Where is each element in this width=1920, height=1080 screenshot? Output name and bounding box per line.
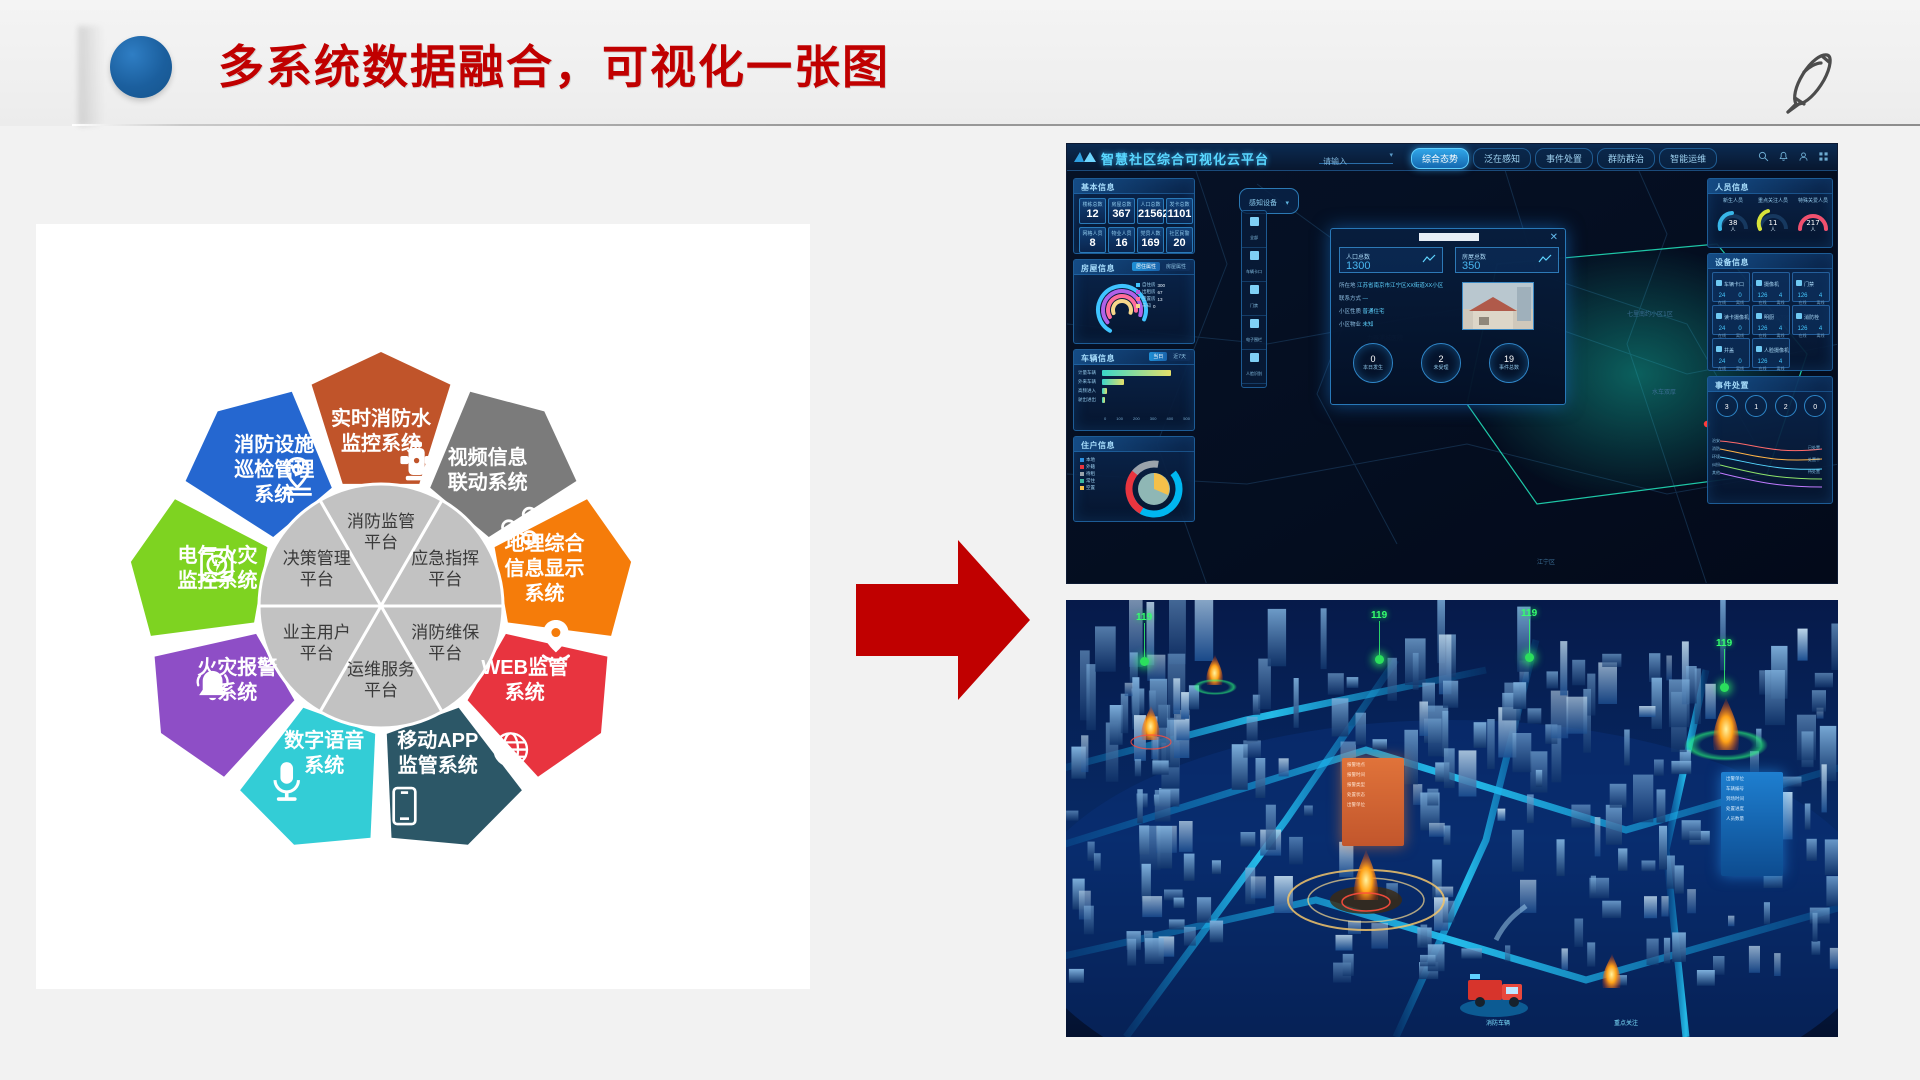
city-building bbox=[1797, 715, 1816, 761]
legend-swatch bbox=[1136, 290, 1140, 294]
chevron-down-icon[interactable]: ▾ bbox=[1389, 151, 1393, 159]
device-cell-0[interactable]: 车辆卡口24在线0离线 bbox=[1712, 272, 1750, 302]
city-building bbox=[1667, 856, 1675, 889]
people-gauge-0: 新生人员38人 bbox=[1714, 197, 1752, 238]
city-building bbox=[1610, 784, 1627, 808]
city-caption-focus: 重点关注 bbox=[1614, 1018, 1638, 1027]
marker-stem bbox=[1379, 621, 1380, 655]
svg-text:纠纷: 纠纷 bbox=[1712, 461, 1720, 467]
basic-stat-5: 物业人员16 bbox=[1108, 227, 1135, 253]
city-building bbox=[1749, 946, 1760, 973]
dashboard-logo-icon bbox=[1073, 150, 1097, 169]
city-building bbox=[1505, 945, 1510, 961]
device-offline: 0 bbox=[1736, 293, 1744, 300]
svg-text:治安: 治安 bbox=[1712, 437, 1720, 443]
vehicle-axis-tick-5: 500 bbox=[1183, 416, 1190, 421]
house-info-tabs[interactable]: 居住属性房屋属性 bbox=[1132, 262, 1190, 271]
resident-info-legend: 本地外籍待租常住空置 bbox=[1080, 457, 1095, 492]
city-119-marker-3: 119 bbox=[1716, 638, 1732, 692]
pen-icon bbox=[1766, 40, 1846, 125]
device-online: 126 bbox=[1797, 293, 1807, 300]
panel-people-info: 人员信息 新生人员38人重点关注人员11人特殊关爱人员217人 bbox=[1707, 178, 1833, 248]
city-building bbox=[1459, 750, 1477, 796]
city-panel-row-4: 出警单位 bbox=[1347, 802, 1399, 808]
device-online: 24 bbox=[1718, 293, 1726, 300]
house-tab-0[interactable]: 居住属性 bbox=[1132, 262, 1160, 271]
trend-up-icon bbox=[1422, 254, 1436, 264]
city-building bbox=[1812, 690, 1826, 711]
svg-text:人: 人 bbox=[1730, 227, 1735, 233]
bell-icon[interactable] bbox=[1778, 151, 1789, 162]
people-gauge-1: 重点关注人员11人 bbox=[1754, 197, 1792, 238]
city-building bbox=[1624, 730, 1630, 766]
marker-stem bbox=[1144, 623, 1145, 657]
svg-text:其他: 其他 bbox=[1712, 469, 1720, 475]
city-building bbox=[1547, 671, 1559, 688]
device-name: 门禁 bbox=[1804, 282, 1814, 288]
city-building bbox=[1443, 681, 1458, 708]
city-caption-truck: 消防车辆 bbox=[1486, 1018, 1510, 1027]
city-building bbox=[1294, 678, 1299, 728]
map-layer-dropdown-label: 感知设备 bbox=[1249, 200, 1277, 207]
city-building bbox=[1647, 939, 1659, 966]
car-icon bbox=[1250, 251, 1259, 260]
city-building bbox=[1649, 653, 1660, 682]
modal-circle-label: 本日发生 bbox=[1354, 365, 1392, 371]
house-legend-item-0: 自住房300 bbox=[1136, 282, 1165, 288]
city-building bbox=[1598, 662, 1617, 704]
city-building bbox=[1371, 923, 1388, 949]
door-icon bbox=[1796, 280, 1802, 286]
device-name: 车辆卡口 bbox=[1724, 282, 1744, 288]
house-donut-chart bbox=[1074, 276, 1196, 344]
city-building bbox=[1356, 713, 1367, 745]
svg-text:人: 人 bbox=[1770, 227, 1775, 233]
city-building bbox=[1266, 805, 1276, 850]
svg-text:处置中: 处置中 bbox=[1808, 456, 1820, 462]
map-tool-face-icon[interactable]: 人脸识别 bbox=[1242, 350, 1266, 384]
city-building bbox=[1687, 889, 1696, 913]
city-building bbox=[1654, 760, 1664, 776]
device-cell-2[interactable]: 门禁126在线4离线 bbox=[1792, 272, 1830, 302]
header-accent-bar bbox=[78, 26, 104, 126]
event-counter-value: 2 bbox=[1784, 404, 1788, 411]
map-tool-label: 车辆卡口 bbox=[1246, 269, 1262, 274]
city-building bbox=[1095, 626, 1116, 671]
device-cell-5[interactable]: 消防栓126在线4离线 bbox=[1792, 305, 1830, 335]
dashboard-search-value: 请输入 bbox=[1319, 157, 1347, 166]
device-name: 摄像机 bbox=[1764, 282, 1779, 288]
svg-text:11: 11 bbox=[1769, 219, 1778, 227]
city-building bbox=[1181, 692, 1189, 719]
city-building bbox=[1084, 906, 1094, 935]
city-building bbox=[1589, 878, 1609, 899]
city-building bbox=[1682, 820, 1701, 840]
panel-title: 车辆信息 bbox=[1081, 353, 1115, 364]
city-building bbox=[1420, 955, 1436, 966]
modal-field-label: 所在地 bbox=[1339, 283, 1356, 289]
legend-swatch bbox=[1136, 297, 1140, 301]
legend-swatch bbox=[1080, 479, 1084, 483]
dashboard-tab-2[interactable]: 事件处置 bbox=[1535, 148, 1593, 169]
stat-value: 8 bbox=[1080, 237, 1105, 250]
vehicle-tab-1[interactable]: 近7天 bbox=[1169, 352, 1190, 361]
city-building bbox=[1822, 764, 1827, 812]
city-building bbox=[1195, 600, 1214, 661]
gauge-arc: 11人 bbox=[1756, 205, 1790, 233]
vehicle-bar-row-2: 高频进入 bbox=[1078, 388, 1192, 394]
modal-field-label: 小区性质 bbox=[1339, 309, 1361, 315]
title-bullet-icon bbox=[110, 36, 172, 98]
panel-device-info: 设备信息 车辆卡口24在线0离线摄像机126在线4离线门禁126在线4离线读卡摄… bbox=[1707, 253, 1833, 371]
event-counter-1: 1 bbox=[1745, 395, 1767, 417]
dashboard-nav-tabs[interactable]: 综合态势泛在感知事件处置群防群治智能运维 bbox=[1411, 148, 1717, 169]
city-building bbox=[1657, 789, 1666, 822]
device-online: 126 bbox=[1797, 326, 1807, 333]
panel-title: 房屋信息 bbox=[1081, 263, 1115, 274]
community-detail-modal[interactable]: ✕ 人口总数1300房屋总数350 所在地 江苏省南京市江宁区XX街道XX小区联… bbox=[1330, 228, 1566, 405]
svg-text:水车双厚: 水车双厚 bbox=[1652, 388, 1676, 396]
city-building bbox=[1429, 823, 1445, 837]
city-building bbox=[1289, 837, 1303, 865]
vehicle-bar bbox=[1102, 379, 1124, 385]
legend-label: 未知 bbox=[1142, 303, 1151, 309]
modal-stat-1: 房屋总数350 bbox=[1455, 247, 1559, 273]
event-counter-value: 1 bbox=[1754, 404, 1758, 411]
device-cell-3[interactable]: 读卡摄像机24在线0离线 bbox=[1712, 305, 1750, 335]
legend-label: 常住 bbox=[1086, 478, 1095, 484]
map-tool-fence-icon[interactable]: 电子围栏 bbox=[1242, 316, 1266, 350]
city-building bbox=[1321, 608, 1327, 669]
dashboard-tab-0[interactable]: 综合态势 bbox=[1411, 148, 1469, 169]
city-building bbox=[1587, 942, 1595, 966]
resident-pie-chart bbox=[1114, 455, 1194, 521]
gauge-arc: 38人 bbox=[1716, 205, 1750, 233]
user-icon[interactable] bbox=[1798, 151, 1809, 162]
legend-label: 外籍 bbox=[1086, 464, 1095, 470]
map-tool-label: 人脸识别 bbox=[1246, 371, 1262, 376]
device-cell-1[interactable]: 摄像机126在线4离线 bbox=[1752, 272, 1790, 302]
device-offline: 4 bbox=[1776, 359, 1784, 366]
modal-circle-label: 未受理 bbox=[1422, 365, 1460, 371]
kitchen-icon bbox=[1756, 313, 1762, 319]
stat-value: 367 bbox=[1109, 208, 1134, 221]
panel-basic-info: 基本信息 楼栋总数12房屋总数367人口总数21562发卡总数1101网格人员8… bbox=[1073, 178, 1195, 254]
modal-field-0: 所在地 江苏省南京市江宁区XX街道XX小区 bbox=[1339, 281, 1443, 289]
stat-value: 21562 bbox=[1138, 208, 1163, 221]
city-building bbox=[1528, 708, 1542, 723]
gauge-label: 新生人员 bbox=[1714, 197, 1752, 204]
legend-swatch bbox=[1080, 472, 1084, 476]
device-name: 明厨 bbox=[1764, 315, 1774, 321]
city-building bbox=[1328, 673, 1344, 694]
city-panel-row-3: 处置状态 bbox=[1347, 792, 1399, 798]
legend-value: 13 bbox=[1158, 297, 1163, 302]
city-119-marker-0: 119 bbox=[1136, 612, 1152, 666]
device-online-label: 在线 bbox=[1797, 333, 1807, 338]
city-building bbox=[1826, 876, 1838, 906]
city-building bbox=[1652, 678, 1663, 729]
modal-field-value: 未知 bbox=[1363, 322, 1374, 328]
city-building bbox=[1805, 804, 1811, 830]
device-name: 消防栓 bbox=[1804, 315, 1819, 321]
svg-text:38: 38 bbox=[1729, 219, 1738, 227]
device-name: 人脸摄像机 bbox=[1764, 348, 1789, 354]
event-counter-value: 3 bbox=[1725, 404, 1729, 411]
marker-label: 119 bbox=[1371, 610, 1387, 621]
house-legend-item-2: 空置房13 bbox=[1136, 296, 1165, 302]
modal-title-placeholder bbox=[1419, 233, 1479, 241]
marker-stem bbox=[1724, 649, 1725, 683]
device-offline: 4 bbox=[1816, 293, 1824, 300]
stat-value: 16 bbox=[1109, 237, 1134, 250]
device-offline: 4 bbox=[1776, 326, 1784, 333]
city-building bbox=[1566, 697, 1587, 734]
city-building bbox=[1444, 748, 1455, 788]
city-dispatch-panel: 出警单位车辆编号到场时间处置进度人员数量 bbox=[1721, 772, 1783, 876]
city-building bbox=[1388, 658, 1397, 701]
dashboard-search-input[interactable]: 请输入 ▾ bbox=[1319, 151, 1393, 164]
door-icon bbox=[1250, 285, 1259, 294]
city-building bbox=[1210, 921, 1223, 943]
city-building bbox=[1088, 842, 1095, 861]
city-building bbox=[1602, 901, 1621, 918]
modal-field-label: 联系方式 bbox=[1339, 296, 1361, 302]
resident-legend-item-4: 空置 bbox=[1080, 485, 1095, 491]
city-building bbox=[1135, 759, 1141, 776]
legend-value: 0 bbox=[1153, 304, 1156, 309]
device-cell-7[interactable]: 人脸摄像机126在线4离线 bbox=[1752, 338, 1790, 368]
city-building bbox=[1152, 761, 1168, 775]
legend-label: 出租房 bbox=[1142, 289, 1156, 295]
legend-swatch bbox=[1080, 486, 1084, 490]
map-tool-car-icon[interactable]: 车辆卡口 bbox=[1242, 248, 1266, 282]
modal-stat-value: 1300 bbox=[1346, 260, 1370, 272]
modal-circle-value: 19 bbox=[1490, 354, 1528, 365]
marker-stem bbox=[1529, 619, 1530, 653]
manhole-icon bbox=[1716, 346, 1722, 352]
house-tab-1[interactable]: 房屋属性 bbox=[1162, 262, 1190, 271]
city-building bbox=[1173, 678, 1180, 714]
city-building bbox=[1155, 790, 1171, 822]
device-cell-4[interactable]: 明厨126在线4离线 bbox=[1752, 305, 1790, 335]
legend-value: 300 bbox=[1158, 283, 1166, 288]
modal-field-3: 小区物业 未知 bbox=[1339, 320, 1374, 328]
vehicle-axis-tick-1: 100 bbox=[1116, 416, 1123, 421]
camera-icon bbox=[1756, 280, 1762, 286]
city-building bbox=[1512, 830, 1524, 872]
vehicle-bar-row-0: 计量车辆 bbox=[1078, 370, 1192, 376]
vehicle-bar-label: 高频进入 bbox=[1078, 388, 1102, 394]
close-icon[interactable]: ✕ bbox=[1550, 232, 1558, 243]
city-building bbox=[1348, 921, 1361, 934]
city-panel-row-4: 人员数量 bbox=[1726, 816, 1778, 822]
city-building bbox=[1728, 916, 1734, 927]
city-building bbox=[1807, 839, 1817, 861]
panel-title: 住户信息 bbox=[1081, 440, 1115, 451]
dashboard-title: 智慧社区综合可视化云平台 bbox=[1101, 149, 1269, 168]
face-icon bbox=[1756, 346, 1762, 352]
city-building bbox=[1587, 674, 1595, 716]
vehicle-axis-tick-4: 400 bbox=[1167, 416, 1174, 421]
city-panel-row-1: 车辆编号 bbox=[1726, 786, 1778, 792]
city-building bbox=[1606, 805, 1622, 845]
modal-circle-label: 事件总数 bbox=[1490, 365, 1528, 371]
city-building bbox=[1487, 719, 1495, 769]
city-building bbox=[1279, 758, 1289, 776]
city-building bbox=[1644, 896, 1657, 918]
map-tool-layers-icon[interactable]: 全部 bbox=[1242, 214, 1266, 248]
legend-swatch bbox=[1136, 283, 1140, 287]
city-building bbox=[1066, 811, 1078, 821]
modal-circle-value: 0 bbox=[1354, 354, 1392, 365]
city-alarm-panel: 报警地点报警时间报警类型处置状态出警单位 bbox=[1342, 758, 1404, 846]
dashboard-top-icons[interactable] bbox=[1758, 151, 1829, 162]
modal-circle-2: 19事件总数 bbox=[1489, 343, 1529, 383]
city-building bbox=[1081, 735, 1088, 772]
city-building bbox=[1639, 706, 1655, 717]
dashboard-tab-1[interactable]: 泛在感知 bbox=[1473, 148, 1531, 169]
city-building bbox=[1557, 839, 1565, 876]
svg-text:七里南约小区1区: 七里南约小区1区 bbox=[1627, 310, 1673, 318]
event-counters: 3120 bbox=[1712, 395, 1830, 417]
map-tool-rail[interactable]: 全部车辆卡口门禁电子围栏人脸识别 bbox=[1241, 210, 1267, 388]
city-building bbox=[1145, 938, 1164, 964]
panel-title: 事件处置 bbox=[1715, 380, 1749, 391]
city-building bbox=[1121, 694, 1128, 734]
city-building bbox=[1527, 794, 1534, 823]
city-building bbox=[1551, 691, 1568, 739]
city-building bbox=[1157, 826, 1172, 869]
city-building bbox=[1798, 629, 1808, 661]
event-counter-2: 2 bbox=[1775, 395, 1797, 417]
basic-stat-6: 党员人数169 bbox=[1137, 227, 1164, 253]
city-building bbox=[1659, 826, 1667, 870]
city-building bbox=[1086, 664, 1095, 730]
city-building bbox=[1815, 673, 1833, 688]
city-building bbox=[1137, 789, 1143, 823]
layers-icon bbox=[1250, 217, 1259, 226]
marker-label: 119 bbox=[1521, 608, 1537, 619]
car-icon bbox=[1716, 280, 1722, 286]
gauge-label: 特殊关爱人员 bbox=[1794, 197, 1832, 204]
city-panel-row-0: 出警单位 bbox=[1726, 776, 1778, 782]
modal-circle-0: 0本日发生 bbox=[1353, 343, 1393, 383]
city-building bbox=[1427, 789, 1438, 806]
city-building bbox=[1404, 730, 1418, 785]
city-building bbox=[1421, 925, 1428, 946]
basic-stat-4: 网格人员8 bbox=[1079, 227, 1106, 253]
device-offline-label: 离线 bbox=[1816, 333, 1824, 338]
city-panel-row-3: 处置进度 bbox=[1726, 806, 1778, 812]
vehicle-axis-tick-3: 300 bbox=[1150, 416, 1157, 421]
city-building bbox=[1671, 761, 1691, 774]
city-3d-visualization: 119119119119 报警地点报警时间报警类型处置状态出警单位 出警单位车辆… bbox=[1066, 600, 1838, 1037]
search-icon[interactable] bbox=[1758, 151, 1769, 162]
device-online-label: 在线 bbox=[1757, 366, 1767, 371]
city-building bbox=[1256, 758, 1266, 798]
slide-header: 多系统数据融合，可视化一张图 bbox=[0, 0, 1920, 126]
modal-circle-1: 2未受理 bbox=[1421, 343, 1461, 383]
dashboard-tab-3[interactable]: 群防群治 bbox=[1597, 148, 1655, 169]
vehicle-bar bbox=[1102, 397, 1105, 403]
city-building bbox=[1813, 913, 1818, 942]
svg-text:已处置: 已处置 bbox=[1808, 444, 1820, 450]
smart-community-dashboard[interactable]: 力器浦城医院 七里南约小区1区 水车双厚 江宁区 丁香四街道 智慧社区综合可视化… bbox=[1066, 143, 1838, 584]
map-tool-label: 全部 bbox=[1250, 235, 1258, 240]
device-name: 读卡摄像机 bbox=[1724, 315, 1749, 321]
vehicle-info-tabs[interactable]: 当日近7天 bbox=[1149, 352, 1190, 361]
city-panel-row-2: 报警类型 bbox=[1347, 782, 1399, 788]
device-cell-6[interactable]: 井盖24在线0离线 bbox=[1712, 338, 1750, 368]
city-building bbox=[1664, 938, 1670, 964]
modal-field-label: 小区物业 bbox=[1339, 322, 1361, 328]
device-name: 井盖 bbox=[1724, 348, 1734, 354]
city-building bbox=[1666, 656, 1672, 681]
basic-stat-2: 人口总数21562 bbox=[1137, 198, 1164, 224]
city-building bbox=[1562, 948, 1568, 970]
stat-value: 169 bbox=[1138, 237, 1163, 250]
city-building bbox=[1774, 953, 1781, 976]
chevron-down-icon[interactable]: ▾ bbox=[1285, 200, 1289, 207]
stat-value: 12 bbox=[1080, 208, 1105, 221]
dashboard-tab-4[interactable]: 智能运维 bbox=[1659, 148, 1717, 169]
event-counter-3: 0 bbox=[1804, 395, 1826, 417]
device-online: 126 bbox=[1757, 359, 1767, 366]
stat-value: 1101 bbox=[1167, 208, 1192, 221]
city-building bbox=[1142, 896, 1162, 917]
modal-field-value: — bbox=[1363, 296, 1369, 302]
city-building bbox=[1674, 865, 1683, 893]
vehicle-bar-row-1: 外来车辆 bbox=[1078, 379, 1192, 385]
city-building bbox=[1443, 901, 1455, 923]
event-counter-0: 3 bbox=[1716, 395, 1738, 417]
svg-text:江宁区: 江宁区 bbox=[1537, 558, 1555, 566]
legend-label: 待租 bbox=[1086, 471, 1095, 477]
city-building bbox=[1332, 698, 1349, 736]
city-building bbox=[1241, 832, 1256, 847]
city-building bbox=[1513, 733, 1532, 772]
vehicle-bar bbox=[1102, 370, 1171, 376]
city-building bbox=[1373, 739, 1388, 749]
city-building bbox=[1142, 864, 1151, 902]
legend-swatch bbox=[1080, 458, 1084, 462]
city-building bbox=[1669, 679, 1690, 727]
panel-house-info: 房屋信息 居住属性房屋属性 自住房300出租房67空置房13未知0 bbox=[1073, 259, 1195, 344]
legend-label: 空置 bbox=[1086, 485, 1095, 491]
city-panel-row-0: 报警地点 bbox=[1347, 762, 1399, 768]
modal-field-value: 江苏省南京市江宁区XX街道XX小区 bbox=[1357, 283, 1443, 289]
panel-title: 人员信息 bbox=[1715, 182, 1749, 193]
modal-field-2: 小区性质 普通住宅 bbox=[1339, 307, 1385, 315]
map-tool-door-icon[interactable]: 门禁 bbox=[1242, 282, 1266, 316]
city-building bbox=[1247, 717, 1258, 742]
panel-resident-info: 住户信息 本地外籍待租常住空置 bbox=[1073, 436, 1195, 522]
device-offline: 4 bbox=[1776, 293, 1784, 300]
vehicle-tab-0[interactable]: 当日 bbox=[1149, 352, 1167, 361]
house-info-legend: 自住房300出租房67空置房13未知0 bbox=[1136, 282, 1165, 310]
device-online: 126 bbox=[1757, 326, 1767, 333]
city-building bbox=[1642, 861, 1656, 872]
grid-icon[interactable] bbox=[1818, 151, 1829, 162]
map-tool-label: 电子围栏 bbox=[1246, 337, 1262, 342]
city-building bbox=[1782, 777, 1802, 787]
people-gauge-2: 特殊关爱人员217人 bbox=[1794, 197, 1832, 238]
city-building bbox=[1197, 897, 1211, 923]
legend-label: 自住房 bbox=[1142, 282, 1156, 288]
city-119-marker-2: 119 bbox=[1521, 608, 1537, 662]
modal-stat-value: 350 bbox=[1462, 260, 1480, 272]
